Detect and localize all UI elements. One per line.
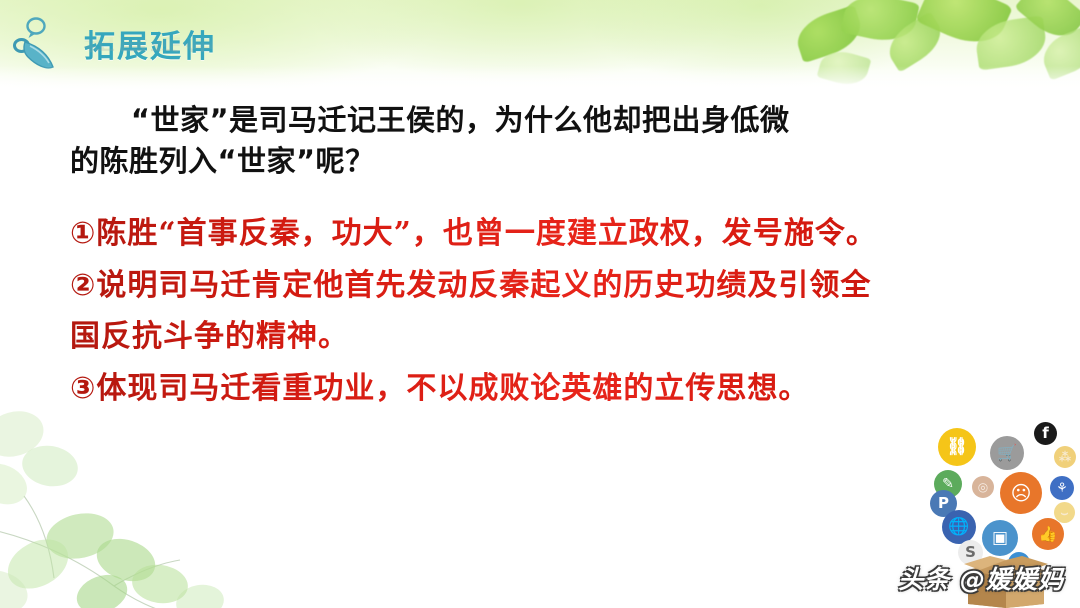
answer-item-2-cont: 国反抗斗争的精神。 [70,311,1000,363]
link-chain-icon: ⛓ [938,428,976,466]
chat-icon: ⌣ [1054,502,1075,523]
page-title-reflection: 拓展延伸 [84,30,216,58]
users-group-icon: ⚘ [1050,476,1074,500]
head-idea-icon: ☹ [1000,472,1042,514]
green-leaves-photo [790,0,1080,92]
green-branch-watermark [0,388,274,608]
answer-item-2: ②说明司马迁肯定他首先发动反秦起义的历史功绩及引领全 [70,260,1000,312]
brush-pen-icon [12,12,90,74]
header-band: 拓展延伸 拓展延伸 [0,0,1080,92]
watermark-text: 头条 @媛媛妈 [898,560,1064,596]
question-text: “世家”是司马迁记王侯的，为什么他却把出身低微 的陈胜列入“世家”呢？ [70,100,980,182]
answer-item-1: ①陈胜“首事反秦，功大”，也曾一度建立政权，发号施令。 [70,208,1000,260]
question-line-2: 的陈胜列入“世家”呢？ [70,144,375,178]
shopping-cart-icon: 🛒 [990,436,1024,470]
slide-canvas: 拓展延伸 拓展延伸 “世家”是司马迁记王侯的，为什么他却把出身低微 的陈胜列入“… [0,0,1080,608]
share-nodes-icon: ⁂ [1054,446,1076,468]
speech-bubble-icon [28,19,45,34]
answer-list: ①陈胜“首事反秦，功大”，也曾一度建立政权，发号施令。 ②说明司马迁肯定他首先发… [70,208,1000,414]
question-line-1: “世家”是司马迁记王侯的，为什么他却把出身低微 [131,103,790,137]
globe-icon: 🌐 [942,510,976,544]
answer-item-3: ③体现司马迁看重功业，不以成败论英雄的立传思想。 [70,363,1000,415]
facebook-icon: f [1034,422,1057,445]
target-ring-icon: ◎ [972,476,994,498]
